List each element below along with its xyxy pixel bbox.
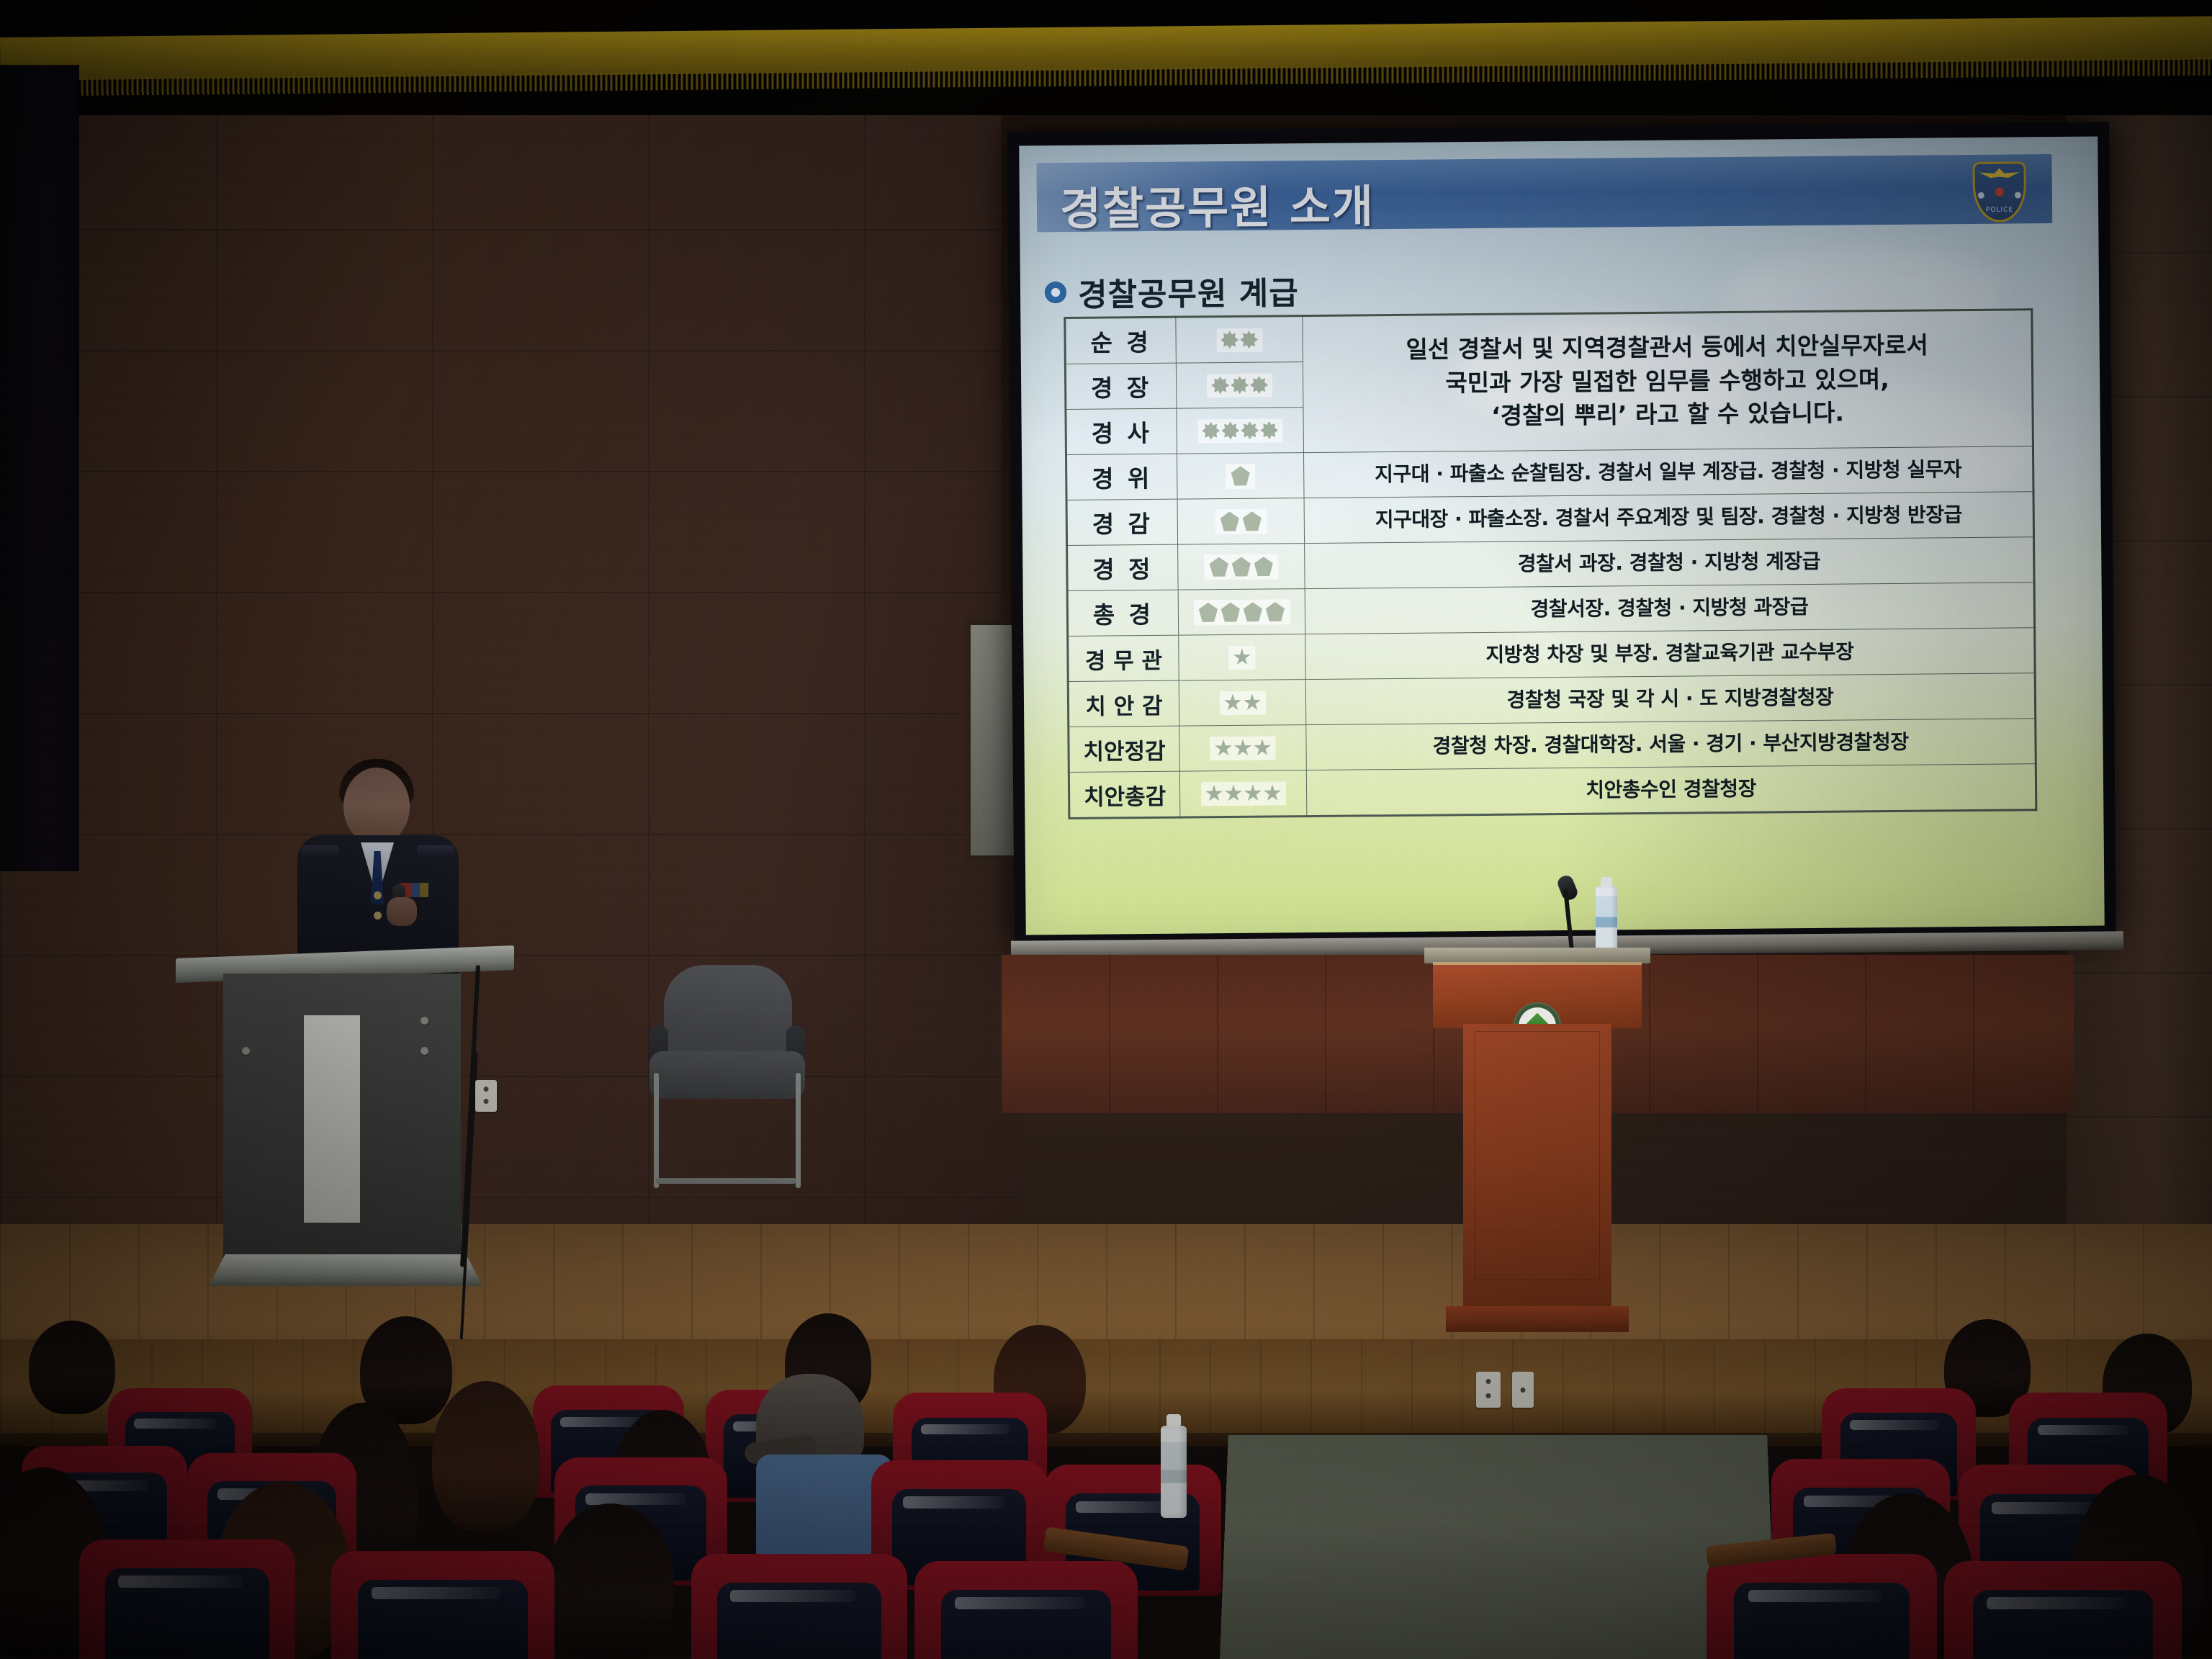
- star-insignia-icon: [1205, 785, 1223, 803]
- rank-insignia-cell: [1177, 453, 1304, 500]
- rank-name-cell: 총 경: [1067, 590, 1179, 636]
- audience-head: [547, 1503, 674, 1659]
- rank-insignia-cell: [1178, 589, 1305, 636]
- rose-insignia-icon: [1220, 602, 1241, 621]
- table-row: 총 경경찰서장. 경찰청 · 지방청 과장급: [1067, 583, 2034, 637]
- audience-head: [29, 1321, 115, 1414]
- rank-insignia-cell: [1178, 544, 1305, 590]
- rose-insignia-icon: [1197, 603, 1218, 622]
- rose-insignia-icon: [1253, 557, 1274, 576]
- rank-insignia-cell: [1179, 725, 1307, 772]
- rose-insignia-icon: [1264, 602, 1285, 621]
- bullet-ring-icon: [1045, 282, 1066, 303]
- table-row: 경 위지구대 · 파출소 순찰팀장. 경찰서 일부 계장급. 경찰청 · 지방청…: [1066, 446, 2033, 500]
- star-insignia-icon: [1214, 739, 1232, 757]
- mugunghwa-insignia-icon: [1211, 377, 1229, 395]
- rank-name-cell: 순 경: [1065, 317, 1177, 364]
- table-row: 경 감지구대장 · 파출소장. 경찰서 주요계장 및 팀장. 경찰청 · 지방청…: [1066, 492, 2033, 546]
- mugunghwa-insignia-icon: [1250, 376, 1268, 394]
- rank-description-cell: 일선 경찰서 및 지역경찰관서 등에서 치안실무자로서국민과 가장 밀접한 임무…: [1303, 310, 2033, 453]
- emblem-label: POLICE: [1973, 206, 2026, 214]
- table-row: 치 안 감경찰청 국장 및 각 시 · 도 지방경찰청장: [1068, 673, 2035, 727]
- star-insignia-icon: [1233, 739, 1251, 757]
- rank-name-cell: 경 사: [1066, 408, 1177, 454]
- rank-insignia-cell: [1179, 634, 1306, 681]
- star-insignia-icon: [1233, 648, 1251, 666]
- rank-description-cell: 경찰청 국장 및 각 시 · 도 지방경찰청장: [1305, 673, 2036, 725]
- mugunghwa-insignia-icon: [1221, 421, 1239, 439]
- rank-insignia-cell: [1177, 498, 1305, 545]
- rank-description-cell: 경찰서 과장. 경찰청 · 지방청 계장급: [1305, 537, 2035, 589]
- grey-lectern: [216, 952, 475, 1290]
- rank-insignia-cell: [1179, 770, 1307, 818]
- rank-description-cell: 지방청 차장 및 부장. 경찰교육기관 교수부장: [1305, 628, 2036, 680]
- rank-insignia-cell: [1179, 680, 1306, 727]
- rank-insignia-cell: [1176, 316, 1303, 364]
- mugunghwa-insignia-icon: [1231, 376, 1249, 394]
- police-officer-presenter: [292, 756, 464, 972]
- star-insignia-icon: [1263, 784, 1281, 802]
- rank-description-cell: 지구대 · 파출소 순찰팀장. 경찰서 일부 계장급. 경찰청 · 지방청 실무…: [1303, 446, 2033, 498]
- left-wall-panel: [0, 108, 1022, 1289]
- rank-description-cell: 경찰서장. 경찰청 · 지방청 과장급: [1305, 583, 2035, 634]
- audience-cap: [756, 1374, 864, 1465]
- rank-table: 순 경일선 경찰서 및 지역경찰관서 등에서 치안실무자로서국민과 가장 밀접한…: [1064, 308, 2037, 819]
- description-line: ‘경찰의 뿌리’ 라고 할 수 있습니다.: [1303, 395, 2031, 436]
- seat: [79, 1539, 295, 1659]
- rose-insignia-icon: [1230, 466, 1251, 485]
- stage-chair: [634, 965, 821, 1195]
- rank-name-cell: 경 정: [1067, 544, 1179, 590]
- star-insignia-icon: [1244, 784, 1262, 802]
- star-insignia-icon: [1243, 693, 1261, 711]
- wooden-podium: [1433, 948, 1642, 1351]
- mugunghwa-insignia-icon: [1240, 331, 1258, 349]
- seat: [1944, 1561, 2182, 1659]
- rank-description-cell: 치안총수인 경찰청장: [1306, 764, 2036, 817]
- mugunghwa-insignia-icon: [1260, 421, 1278, 439]
- rank-description-cell: 지구대장 · 파출소장. 경찰서 주요계장 및 팀장. 경찰청 · 지방청 반장…: [1304, 492, 2034, 544]
- seat: [914, 1561, 1138, 1659]
- rank-name-cell: 치안총감: [1069, 771, 1180, 818]
- rank-name-cell: 치 안 감: [1068, 680, 1179, 727]
- seat: [1707, 1554, 1937, 1659]
- mugunghwa-insignia-icon: [1220, 331, 1238, 349]
- auditorium-scene: 경찰공무원 소개 POLICE 경찰공무원 계급 순 경일선 경찰서 및 지역경…: [0, 0, 2212, 1659]
- slide-title: 경찰공무원 소개: [1060, 170, 1375, 238]
- mugunghwa-insignia-icon: [1202, 422, 1220, 440]
- rank-name-cell: 치안정감: [1069, 726, 1180, 772]
- table-row: 경 무 관지방청 차장 및 부장. 경찰교육기관 교수부장: [1068, 628, 2035, 682]
- projection-screen: 경찰공무원 소개 POLICE 경찰공무원 계급 순 경일선 경찰서 및 지역경…: [1019, 136, 2105, 935]
- star-insignia-icon: [1253, 739, 1271, 757]
- table-row: 치안총감치안총수인 경찰청장: [1069, 764, 2036, 819]
- rank-name-cell: 경 위: [1066, 454, 1177, 500]
- star-insignia-icon: [1224, 784, 1242, 802]
- description-line: 일선 경찰서 및 지역경찰관서 등에서 치안실무자로서: [1303, 328, 2031, 368]
- rose-insignia-icon: [1242, 602, 1263, 621]
- rose-insignia-icon: [1231, 557, 1251, 576]
- slide-bullet-label: 경찰공무원 계급: [1078, 267, 1299, 315]
- table-row: 치안정감경찰청 차장. 경찰대학장. 서울 · 경기 · 부산지방경찰청장: [1069, 719, 2036, 773]
- seat: [331, 1551, 554, 1659]
- rank-name-cell: 경 장: [1065, 363, 1177, 409]
- rank-insignia-cell: [1176, 362, 1303, 409]
- wall-power-outlet: [475, 1080, 497, 1112]
- rose-insignia-icon: [1208, 557, 1229, 577]
- star-insignia-icon: [1223, 693, 1241, 711]
- rose-insignia-icon: [1241, 511, 1262, 531]
- audience-seating: [0, 1323, 2212, 1659]
- slide-bullet: 경찰공무원 계급: [1045, 267, 1299, 315]
- table-row: 경 정경찰서 과장. 경찰청 · 지방청 계장급: [1067, 537, 2034, 591]
- slide-header-bar: 경찰공무원 소개 POLICE: [1036, 154, 2052, 232]
- table-row: 순 경일선 경찰서 및 지역경찰관서 등에서 치안실무자로서국민과 가장 밀접한…: [1065, 310, 2033, 364]
- rank-name-cell: 경 무 관: [1068, 635, 1179, 681]
- stage-curtain: [0, 65, 79, 871]
- seat: [691, 1554, 907, 1659]
- water-bottle: [1161, 1426, 1187, 1518]
- police-emblem-icon: POLICE: [1972, 161, 2026, 222]
- rank-description-cell: 경찰청 차장. 경찰대학장. 서울 · 경기 · 부산지방경찰청장: [1306, 719, 2036, 770]
- rose-insignia-icon: [1219, 511, 1240, 531]
- rank-insignia-cell: [1177, 408, 1304, 454]
- mugunghwa-insignia-icon: [1241, 421, 1259, 439]
- rank-name-cell: 경 감: [1066, 499, 1178, 545]
- audience-head: [432, 1381, 540, 1532]
